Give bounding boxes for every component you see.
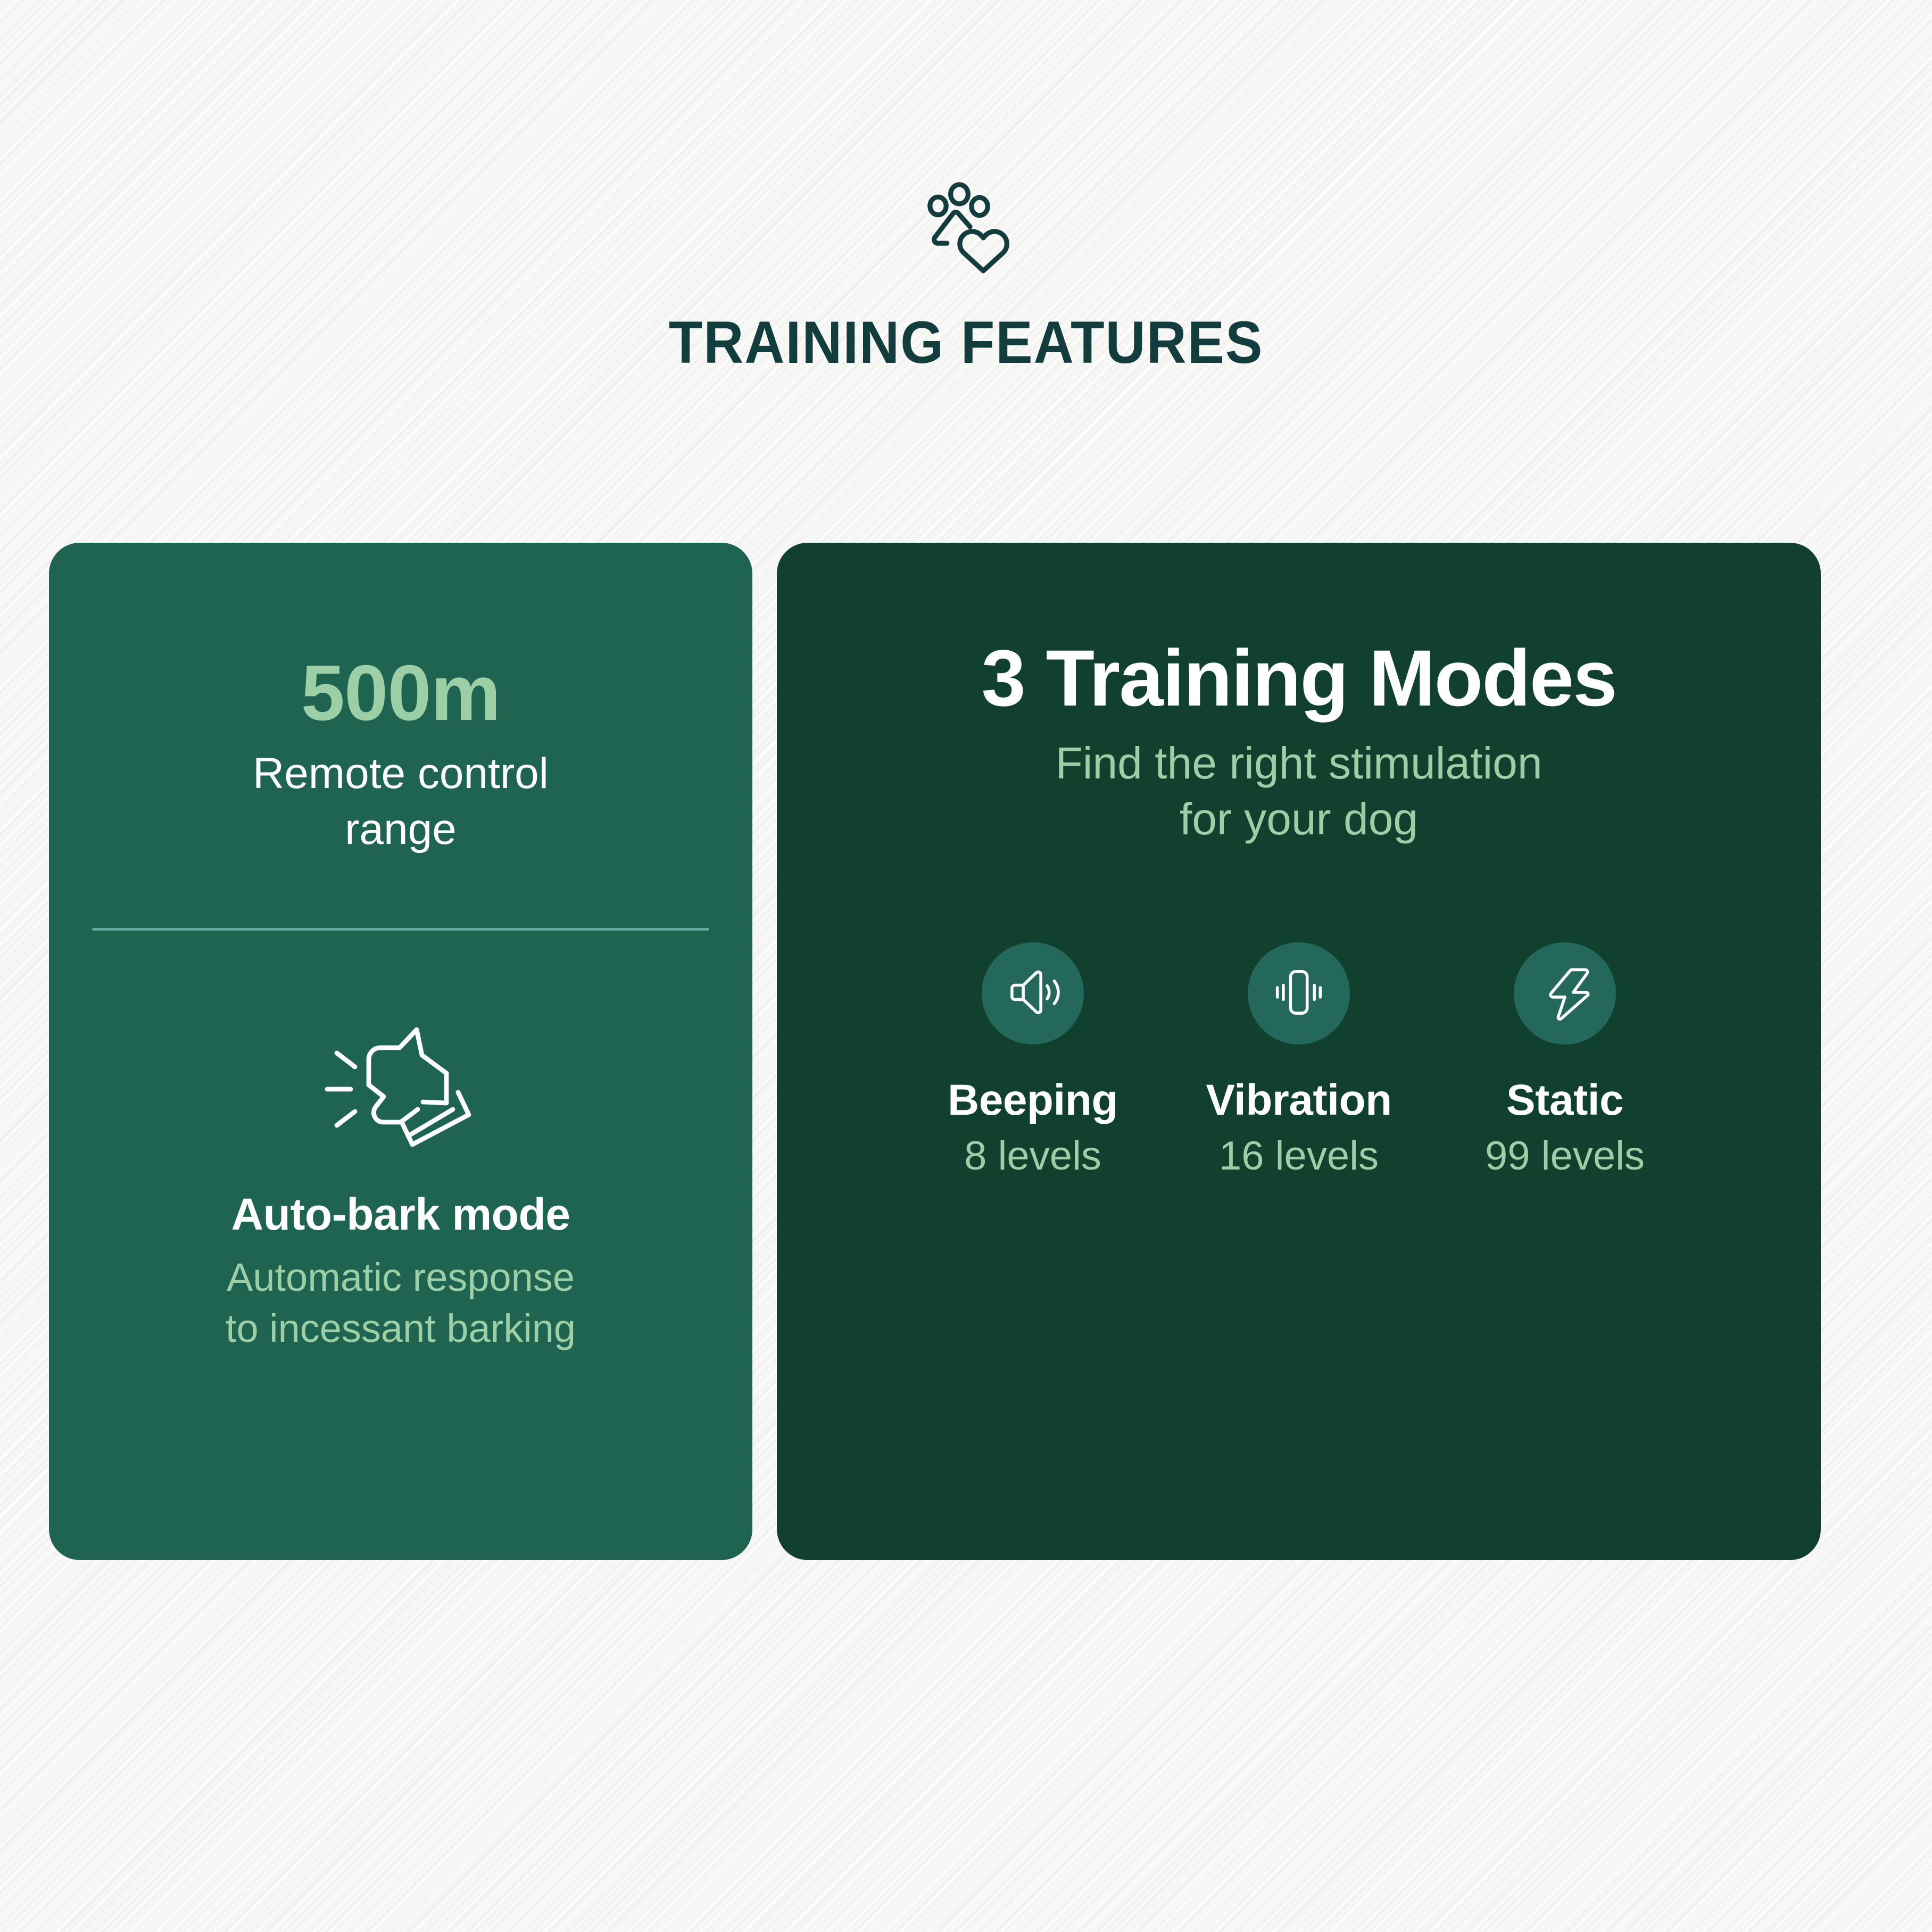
mode-levels-vibration: 16 levels: [1219, 1133, 1379, 1179]
auto-bark-block: Auto-bark mode Automatic responseto ince…: [49, 1024, 752, 1354]
infographic-root: TRAINING FEATURES 500m Remote controlran…: [0, 0, 1932, 1932]
phone-vibrate-icon: [1269, 963, 1329, 1025]
header: TRAINING FEATURES: [0, 176, 1932, 377]
mode-name-vibration: Vibration: [1206, 1075, 1391, 1125]
paw-heart-icon: [913, 176, 1019, 285]
mode-name-beeping: Beeping: [948, 1075, 1118, 1125]
mode-levels-static: 99 levels: [1485, 1133, 1645, 1179]
card-divider: [92, 928, 709, 931]
auto-bark-description: Automatic responseto incessant barking: [49, 1252, 752, 1354]
mode-name-static: Static: [1506, 1075, 1623, 1125]
range-label: Remote controlrange: [49, 746, 752, 858]
cards-container: 500m Remote controlrange: [49, 543, 1821, 1560]
mode-icon-circle-vibration: [1248, 942, 1350, 1044]
modes-title: 3 Training Modes: [777, 636, 1821, 720]
mode-icon-circle-static: [1514, 942, 1616, 1044]
mode-item-vibration: Vibration 16 levels: [1192, 942, 1405, 1179]
mode-levels-beeping: 8 levels: [964, 1133, 1101, 1179]
mode-item-beeping: Beeping 8 levels: [926, 942, 1139, 1179]
page-title: TRAINING FEATURES: [68, 308, 1864, 377]
mode-item-static: Static 99 levels: [1458, 942, 1671, 1179]
range-block: 500m Remote controlrange: [49, 652, 752, 858]
modes-subtitle: Find the right stimulationfor your dog: [777, 735, 1821, 848]
mode-icon-circle-beeping: [982, 942, 1084, 1044]
speaker-sound-icon: [1003, 963, 1063, 1025]
modes-header: 3 Training Modes Find the right stimulat…: [777, 636, 1821, 848]
auto-bark-title: Auto-bark mode: [49, 1189, 752, 1240]
lightning-bolt-icon: [1535, 963, 1595, 1025]
modes-row: Beeping 8 levels: [777, 942, 1821, 1179]
remote-range-card: 500m Remote controlrange: [49, 543, 752, 1560]
range-value: 500m: [49, 652, 752, 734]
training-modes-card: 3 Training Modes Find the right stimulat…: [777, 543, 1821, 1560]
barking-dog-icon: [49, 1024, 752, 1149]
